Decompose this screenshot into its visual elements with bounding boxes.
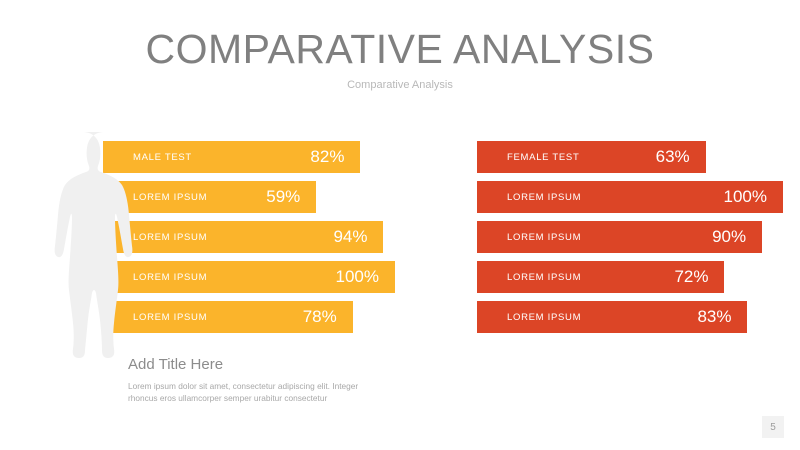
bar-value: 59% bbox=[266, 187, 300, 207]
bar-row[interactable]: LOREM IPSUM83% bbox=[477, 301, 747, 333]
left-caption-body: Lorem ipsum dolor sit amet, consectetur … bbox=[128, 381, 368, 404]
bar-value: 82% bbox=[310, 147, 344, 167]
bar-label: LOREM IPSUM bbox=[133, 192, 207, 203]
bar-row[interactable]: FEMALE TEST63% bbox=[477, 141, 706, 173]
bar-row[interactable]: LOREM IPSUM72% bbox=[477, 261, 724, 293]
bar-row[interactable]: LOREM IPSUM78% bbox=[103, 301, 353, 333]
bar-value: 100% bbox=[336, 267, 379, 287]
bar-label: LOREM IPSUM bbox=[133, 272, 207, 283]
left-caption-title: Add Title Here bbox=[128, 355, 378, 375]
bar-label: FEMALE TEST bbox=[507, 152, 579, 163]
bar-label: LOREM IPSUM bbox=[507, 232, 581, 243]
bar-row[interactable]: LOREM IPSUM100% bbox=[477, 181, 783, 213]
bar-label: MALE TEST bbox=[133, 152, 192, 163]
bar-row[interactable]: LOREM IPSUM90% bbox=[477, 221, 762, 253]
bar-value: 63% bbox=[656, 147, 690, 167]
bar-value: 100% bbox=[724, 187, 767, 207]
left-caption: Add Title Here Lorem ipsum dolor sit ame… bbox=[128, 355, 378, 404]
bar-row[interactable]: LOREM IPSUM59% bbox=[103, 181, 316, 213]
left-panel: MALE TEST82%LOREM IPSUM59%LOREM IPSUM94%… bbox=[0, 0, 400, 450]
bar-value: 83% bbox=[697, 307, 731, 327]
bar-value: 90% bbox=[712, 227, 746, 247]
right-panel: FEMALE TEST63%LOREM IPSUM100%LOREM IPSUM… bbox=[400, 0, 800, 450]
page-number: 5 bbox=[762, 416, 784, 438]
bar-value: 72% bbox=[674, 267, 708, 287]
bar-row[interactable]: LOREM IPSUM94% bbox=[103, 221, 383, 253]
bar-value: 94% bbox=[333, 227, 367, 247]
bar-row[interactable]: MALE TEST82% bbox=[103, 141, 360, 173]
bar-label: LOREM IPSUM bbox=[133, 232, 207, 243]
bar-label: LOREM IPSUM bbox=[507, 312, 581, 323]
bar-label: LOREM IPSUM bbox=[133, 312, 207, 323]
bar-value: 78% bbox=[303, 307, 337, 327]
bar-row[interactable]: LOREM IPSUM100% bbox=[103, 261, 395, 293]
bar-label: LOREM IPSUM bbox=[507, 272, 581, 283]
bar-label: LOREM IPSUM bbox=[507, 192, 581, 203]
slide-comparative-analysis: COMPARATIVE ANALYSIS Comparative Analysi… bbox=[0, 0, 800, 450]
